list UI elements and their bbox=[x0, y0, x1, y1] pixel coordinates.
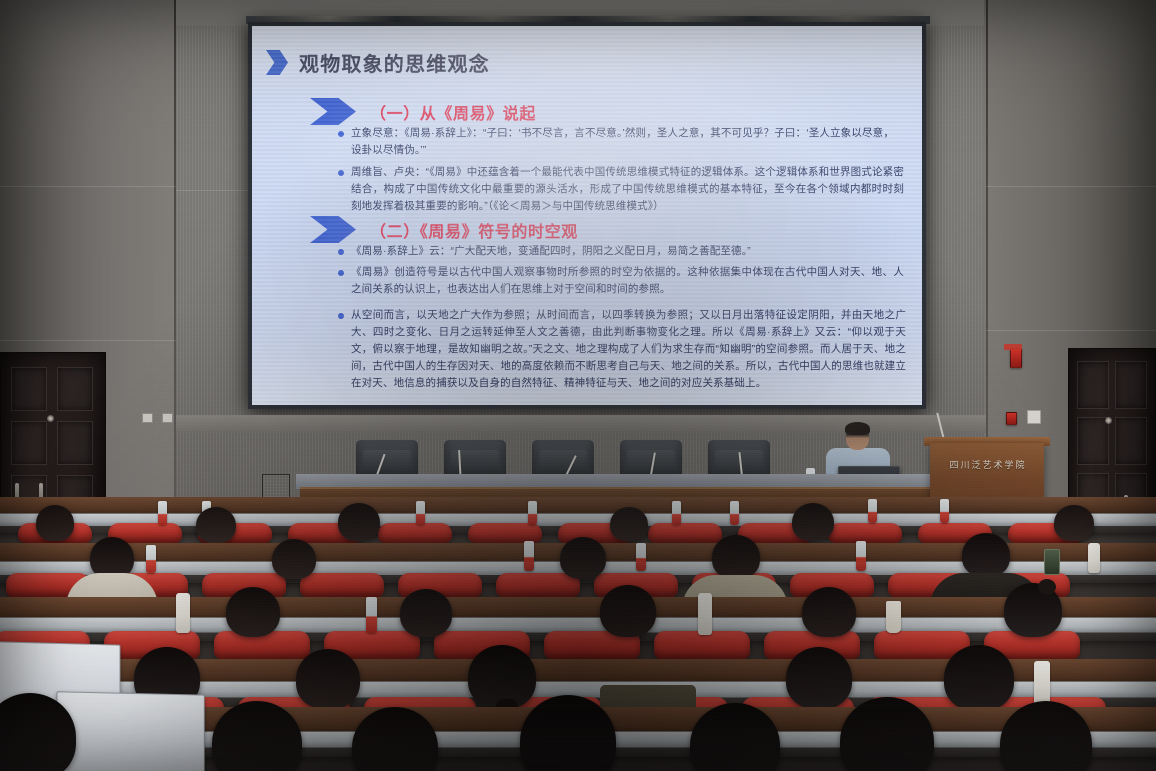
emergency-indicator bbox=[1004, 344, 1022, 350]
wall-joint bbox=[0, 186, 176, 187]
water-bottle bbox=[856, 541, 866, 571]
slide-paragraph: 从空间而言，以天地之广大作为参照；从时间而言，以四季转换为参照；又以日月出落特征… bbox=[338, 307, 906, 392]
tier-riser bbox=[0, 497, 1156, 513]
thermos-flask bbox=[1034, 661, 1050, 705]
lecture-hall-photo: 观物取象的思维观念 （一）从《周易》说起 立象尽意：《周易·系辞上》：“子曰：‘… bbox=[0, 0, 1156, 771]
wall-joint bbox=[986, 186, 1156, 187]
slide-paragraph: 《周易》创造符号是以古代中国人观察事物时所参照的时空为依据的。这种依据集中体现在… bbox=[338, 264, 904, 298]
podium-institution-text: 四川泛艺术学院 bbox=[936, 458, 1040, 471]
section-heading-row-2: （二）《周易》符号的时空观 bbox=[310, 216, 578, 243]
bullet-icon bbox=[338, 131, 344, 137]
audience-head bbox=[196, 507, 236, 543]
audience-head bbox=[226, 587, 280, 637]
audience-head bbox=[1054, 505, 1094, 541]
tier-riser bbox=[0, 597, 1156, 617]
hair-bun bbox=[1038, 579, 1056, 595]
audience-head bbox=[962, 533, 1010, 577]
smartphone bbox=[1044, 549, 1060, 575]
water-bottle bbox=[416, 501, 425, 525]
wall-joint bbox=[986, 330, 1156, 331]
bullet-icon bbox=[338, 270, 344, 276]
wall-outlet bbox=[162, 413, 173, 423]
water-bottle bbox=[146, 545, 156, 573]
audience-head bbox=[338, 503, 380, 541]
thermos-flask bbox=[698, 593, 712, 635]
audience-head bbox=[944, 645, 1014, 711]
audience-head bbox=[712, 535, 760, 579]
slide-paragraph: 周维旨、卢央：“《周易》中还蕴含着一个最能代表中国传统思维模式特征的逻辑体系。这… bbox=[338, 164, 904, 215]
audience-seat bbox=[496, 573, 580, 597]
water-bottle bbox=[158, 501, 167, 525]
fire-alarm-icon bbox=[1010, 348, 1022, 368]
water-bottle bbox=[528, 501, 537, 525]
thermos-flask bbox=[176, 593, 190, 633]
projection-screen: 观物取象的思维观念 （一）从《周易》说起 立象尽意：《周易·系辞上》：“子曰：‘… bbox=[248, 22, 926, 409]
fire-call-point-icon bbox=[1006, 412, 1017, 425]
water-bottle bbox=[730, 501, 739, 525]
audience-head bbox=[272, 539, 316, 579]
audience-area bbox=[0, 497, 1156, 771]
slide-paragraph: 《周易·系辞上》云：“广大配天地，变通配四时，阴阳之义配日月，易简之善配至德。” bbox=[338, 243, 898, 260]
section-heading-row-1: （一）从《周易》说起 bbox=[310, 98, 536, 125]
water-bottle bbox=[636, 543, 646, 571]
drink-cup bbox=[886, 601, 901, 633]
audience-head bbox=[610, 507, 648, 541]
light-switch[interactable] bbox=[1027, 410, 1041, 424]
audience-seat bbox=[648, 523, 722, 543]
thermos-flask bbox=[1088, 543, 1100, 573]
bullet-icon bbox=[338, 313, 344, 319]
section-heading-2: （二）《周易》符号的时空观 bbox=[370, 218, 578, 242]
audience-head bbox=[792, 503, 834, 541]
audience-laptop bbox=[56, 691, 204, 771]
slide-surface: 观物取象的思维观念 （一）从《周易》说起 立象尽意：《周易·系辞上》：“子曰：‘… bbox=[252, 26, 922, 405]
audience-head bbox=[786, 647, 852, 709]
chevron-marker-icon bbox=[266, 50, 288, 75]
water-bottle bbox=[868, 499, 877, 523]
speaker-hair bbox=[845, 422, 870, 435]
wall-outlet bbox=[142, 413, 153, 423]
wall-seam bbox=[174, 0, 176, 540]
water-bottle bbox=[524, 541, 534, 571]
audience-seat bbox=[654, 631, 750, 659]
water-bottle bbox=[940, 499, 949, 523]
audience-head bbox=[802, 587, 856, 637]
audience-seat bbox=[300, 573, 384, 597]
audience-seat bbox=[468, 523, 542, 543]
audience-seat bbox=[828, 523, 902, 543]
audience-head bbox=[296, 649, 360, 709]
chevron-marker-icon bbox=[310, 98, 356, 125]
slide-title: 观物取象的思维观念 bbox=[299, 48, 490, 77]
chevron-marker-icon bbox=[310, 216, 356, 243]
water-bottle bbox=[366, 597, 377, 633]
section-heading-1: （一）从《周易》说起 bbox=[370, 100, 536, 124]
slide-paragraph: 立象尽意：《周易·系辞上》：“子曰：‘书不尽言，言不尽意。’然则，圣人之意，其不… bbox=[338, 125, 894, 159]
audience-head bbox=[400, 589, 452, 637]
audience-head bbox=[560, 537, 606, 579]
bullet-icon bbox=[338, 249, 344, 255]
audience-seat bbox=[378, 523, 452, 543]
audience-head bbox=[36, 505, 74, 541]
bullet-icon bbox=[338, 170, 344, 176]
audience-head bbox=[600, 585, 656, 637]
wall-joint bbox=[0, 340, 176, 341]
water-bottle bbox=[672, 501, 681, 525]
slide-title-row: 观物取象的思维观念 bbox=[266, 48, 490, 77]
